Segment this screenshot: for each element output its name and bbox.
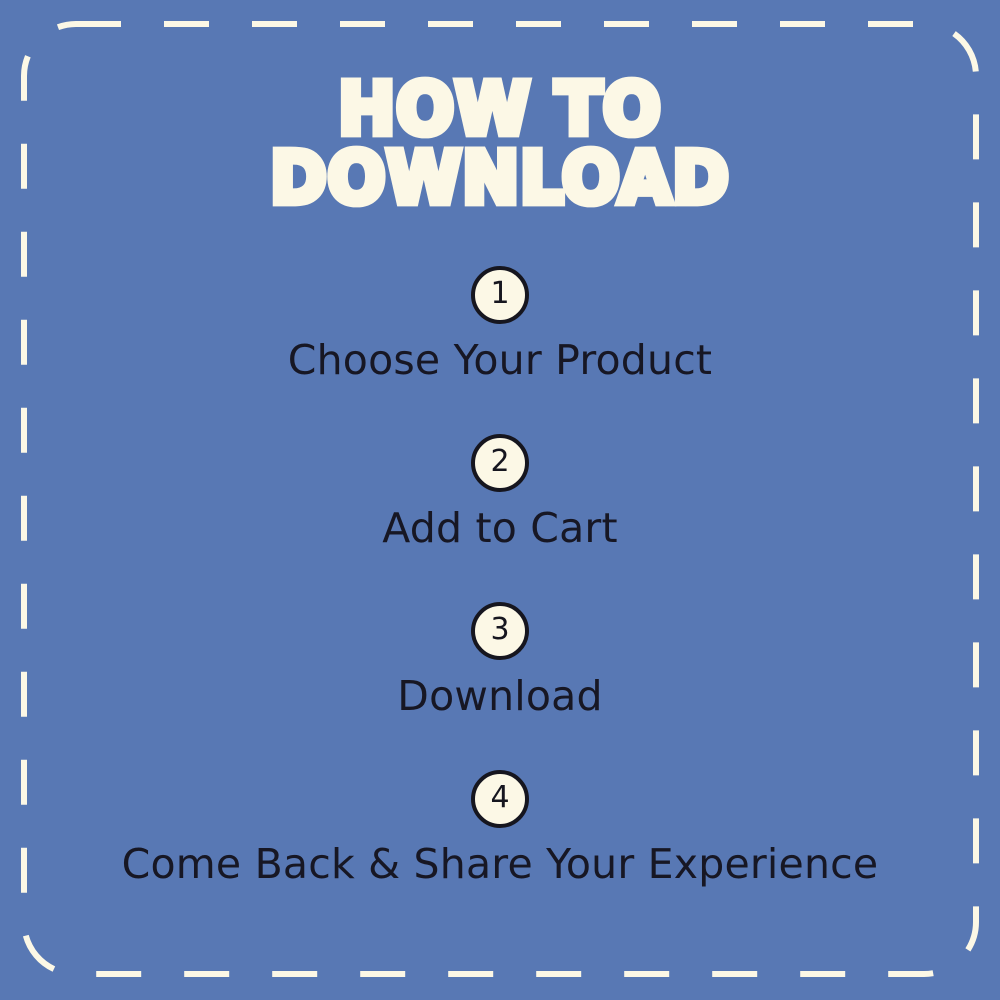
step-item-4: 4 Come Back & Share Your Experience [0,770,1000,938]
step-badge-1: 1 [471,266,529,324]
step-label-4: Come Back & Share Your Experience [0,842,1000,887]
step-item-3: 3 Download [0,602,1000,770]
step-label-3: Download [0,674,1000,719]
poster-title: HOW TO DOWNLOAD [0,80,1000,209]
how-to-download-poster: HOW TO DOWNLOAD 1 Choose Your Product 2 … [0,0,1000,1000]
step-item-1: 1 Choose Your Product [0,266,1000,434]
step-label-1: Choose Your Product [0,338,1000,383]
step-number-4: 4 [490,783,509,813]
step-label-2: Add to Cart [0,506,1000,551]
step-number-3: 3 [490,615,509,645]
title-line-download: DOWNLOAD [0,146,1000,213]
step-badge-3: 3 [471,602,529,660]
step-number-2: 2 [490,447,509,477]
step-badge-4: 4 [471,770,529,828]
step-badge-2: 2 [471,434,529,492]
title-line-how-to: HOW TO [0,76,1000,143]
steps-list: 1 Choose Your Product 2 Add to Cart 3 Do… [0,266,1000,938]
step-number-1: 1 [490,279,509,309]
step-item-2: 2 Add to Cart [0,434,1000,602]
